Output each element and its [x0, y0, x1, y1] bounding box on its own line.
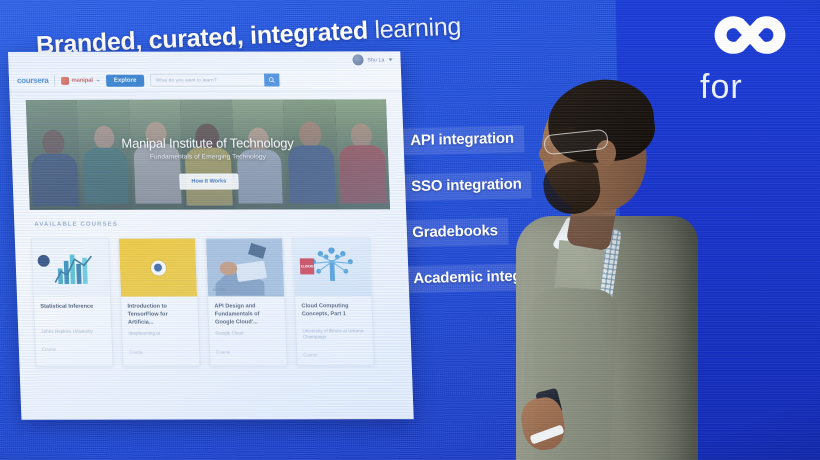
chevron-down-icon: [388, 58, 392, 61]
body-edge-shading: [516, 216, 698, 460]
hero-title: Manipal Institute of Technology: [27, 135, 388, 151]
coursera-logo[interactable]: coursera: [17, 76, 49, 85]
search-placeholder: What do you want to learn?: [151, 77, 264, 83]
course-card[interactable]: ILLINOIS Cloud Computing Concepts, Part …: [292, 237, 375, 366]
presentation-scene: Branded, curated, integrated learning Sh…: [0, 0, 820, 460]
card-thumbnail: ILLINOIS: [293, 238, 371, 296]
course-meta: Course: [216, 349, 280, 354]
how-it-works-button[interactable]: How It Works: [179, 174, 238, 190]
course-meta: Course: [129, 349, 193, 354]
search-icon: [268, 77, 275, 84]
partner-name: manipal: [71, 77, 93, 83]
course-partner: University of Illinois at Urbana-Champai…: [302, 328, 366, 340]
course-card-list: Statistical Inference Johns Hopkins Univ…: [31, 237, 402, 367]
course-partner: Google Cloud: [215, 331, 279, 337]
course-title: Introduction to TensorFlow for Artificia…: [127, 303, 192, 327]
presenter: [470, 74, 720, 460]
course-card[interactable]: Statistical Inference Johns Hopkins Univ…: [31, 238, 114, 367]
account-name: Shu La: [367, 57, 384, 63]
course-card[interactable]: Google API Design and Fundamentals of Go…: [205, 237, 288, 366]
coursera-for-branding: for: [684, 4, 816, 132]
nav-divider: [54, 75, 55, 86]
search-input[interactable]: What do you want to learn?: [150, 74, 281, 87]
hero-subtitle: Fundamentals of Emerging Technology: [28, 153, 388, 161]
hero-banner: Manipal Institute of Technology Fundamen…: [26, 99, 390, 210]
course-partner: deeplearning.ai: [128, 331, 192, 337]
partner-logo[interactable]: manipal: [61, 76, 100, 84]
course-partner: Johns Hopkins University: [41, 329, 105, 335]
coursera-navbar: coursera manipal Explore What do you wan…: [9, 69, 402, 92]
slide-title-light: learning: [374, 12, 462, 44]
card-thumbnail: [119, 239, 197, 297]
partner-mark-icon: [61, 76, 69, 84]
illinois-logo-icon: ILLINOIS: [300, 258, 315, 274]
avatar: [352, 54, 363, 65]
card-thumbnail: Google: [206, 238, 284, 296]
coursera-infinity-logo-icon: [702, 4, 798, 66]
statistics-chart-icon: [43, 248, 98, 288]
coursera-screenshot-panel: Shu La coursera manipal Explore What do …: [8, 51, 414, 419]
johns-hopkins-logo-icon: [37, 255, 49, 267]
course-title: Statistical Inference: [40, 303, 105, 325]
deeplearning-logo-icon: [150, 260, 166, 275]
explore-button[interactable]: Explore: [106, 74, 145, 86]
coursera-for-text: for: [700, 70, 743, 104]
course-meta: Course: [42, 347, 106, 352]
chevron-down-icon: [96, 79, 100, 81]
section-label: AVAILABLE COURSES: [34, 222, 118, 228]
search-button[interactable]: [264, 74, 279, 87]
card-logo-label: Google: [213, 287, 226, 291]
course-card[interactable]: Introduction to TensorFlow for Artificia…: [118, 238, 201, 367]
card-thumbnail: [32, 239, 110, 297]
course-title: API Design and Fundamentals of Google Cl…: [214, 302, 279, 326]
course-meta: Course: [303, 353, 367, 358]
course-title: Cloud Computing Concepts, Part 1: [301, 302, 366, 324]
account-menu[interactable]: Shu La: [352, 54, 392, 65]
